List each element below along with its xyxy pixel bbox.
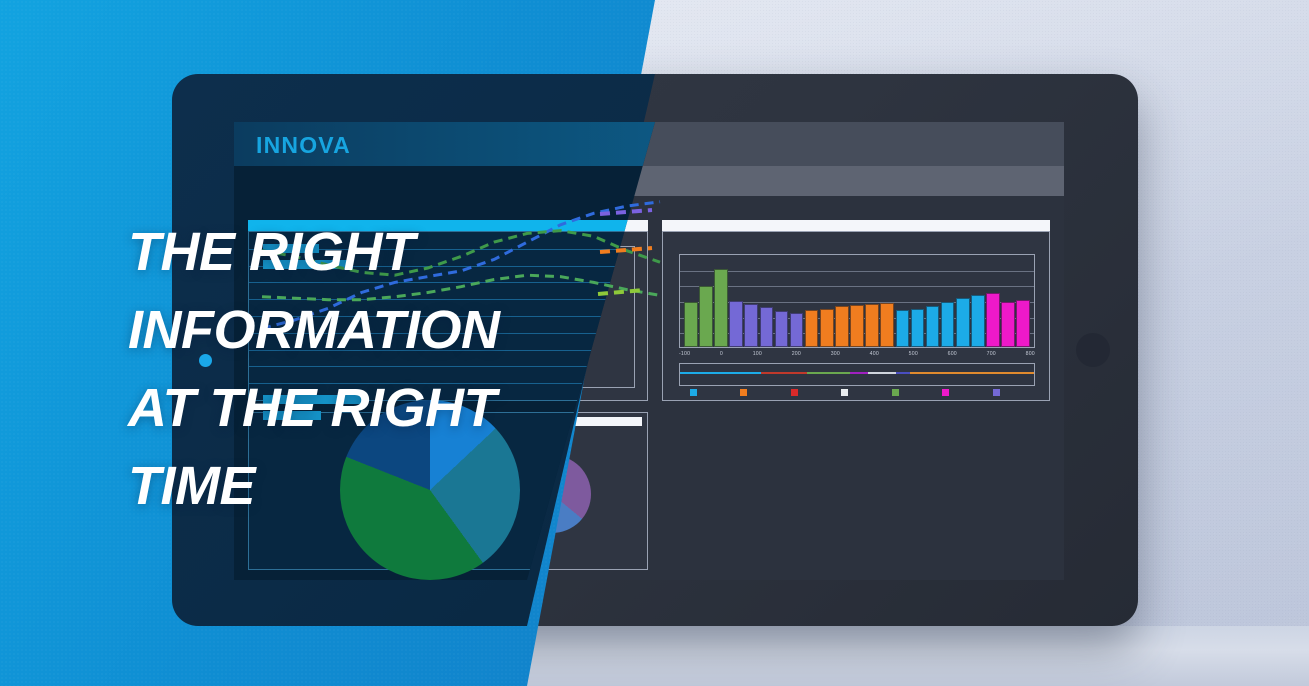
bar[interactable] bbox=[911, 309, 925, 347]
x-tick-label: 800 bbox=[1026, 351, 1035, 362]
x-tick-label: -100 bbox=[679, 351, 690, 362]
bar[interactable] bbox=[744, 304, 758, 347]
bar[interactable] bbox=[699, 286, 713, 347]
headline-line-1: THE RIGHT bbox=[128, 213, 588, 291]
slider-segment[interactable] bbox=[896, 372, 910, 374]
bar[interactable] bbox=[956, 298, 970, 347]
slider-segment[interactable] bbox=[680, 372, 761, 374]
legend-swatch[interactable] bbox=[791, 389, 798, 396]
legend-swatch[interactable] bbox=[740, 389, 747, 396]
page-title: THE RIGHT INFORMATION AT THE RIGHT TIME bbox=[128, 213, 588, 525]
bar[interactable] bbox=[835, 306, 849, 347]
x-tick-label: 300 bbox=[831, 351, 840, 362]
bar-chart-plot bbox=[679, 254, 1035, 348]
slider-segment[interactable] bbox=[761, 372, 807, 374]
bar[interactable] bbox=[865, 304, 879, 347]
bar-chart-bars bbox=[684, 255, 1030, 347]
brand-logo: INNOVA bbox=[256, 132, 351, 159]
bar[interactable] bbox=[941, 302, 955, 347]
bar[interactable] bbox=[790, 313, 804, 347]
headline-line-3: AT THE RIGHT bbox=[128, 369, 588, 447]
bar[interactable] bbox=[1001, 302, 1015, 347]
bar[interactable] bbox=[926, 306, 940, 347]
x-tick-label: 600 bbox=[948, 351, 957, 362]
legend-swatch[interactable] bbox=[993, 389, 1000, 396]
bar[interactable] bbox=[896, 310, 910, 347]
bar[interactable] bbox=[775, 311, 789, 347]
bar[interactable] bbox=[971, 295, 985, 347]
x-tick-label: 0 bbox=[720, 351, 723, 362]
bar[interactable] bbox=[729, 301, 743, 347]
panel-title-strip-right bbox=[662, 220, 1050, 231]
x-tick-label: 200 bbox=[792, 351, 801, 362]
home-button-icon[interactable] bbox=[1076, 333, 1110, 367]
legend-swatch[interactable] bbox=[892, 389, 899, 396]
bar[interactable] bbox=[820, 309, 834, 347]
x-tick-label: 400 bbox=[870, 351, 879, 362]
bar[interactable] bbox=[880, 303, 894, 347]
slider-segment[interactable] bbox=[868, 372, 896, 374]
bar[interactable] bbox=[850, 305, 864, 347]
bar-chart-panel[interactable]: -1000100200300400500600700800 bbox=[662, 231, 1050, 401]
bar[interactable] bbox=[684, 302, 698, 347]
bar[interactable] bbox=[760, 307, 774, 347]
legend-swatch[interactable] bbox=[942, 389, 949, 396]
legend-swatch[interactable] bbox=[690, 389, 697, 396]
slider-segment[interactable] bbox=[807, 372, 849, 374]
x-tick-label: 500 bbox=[909, 351, 918, 362]
legend-swatch[interactable] bbox=[841, 389, 848, 396]
bar-chart-range-slider[interactable] bbox=[679, 363, 1035, 386]
bar[interactable] bbox=[805, 310, 819, 347]
headline-line-2: INFORMATION bbox=[128, 291, 588, 369]
slider-segment[interactable] bbox=[910, 372, 1034, 374]
headline-line-4: TIME bbox=[128, 447, 588, 525]
x-tick-label: 700 bbox=[987, 351, 996, 362]
bar[interactable] bbox=[714, 269, 728, 347]
bar[interactable] bbox=[1016, 300, 1030, 347]
slider-segment[interactable] bbox=[850, 372, 868, 374]
bar-chart-legend[interactable] bbox=[679, 388, 1035, 398]
x-tick-label: 100 bbox=[753, 351, 762, 362]
bar-chart-x-axis: -1000100200300400500600700800 bbox=[679, 351, 1035, 362]
bar[interactable] bbox=[986, 293, 1000, 347]
